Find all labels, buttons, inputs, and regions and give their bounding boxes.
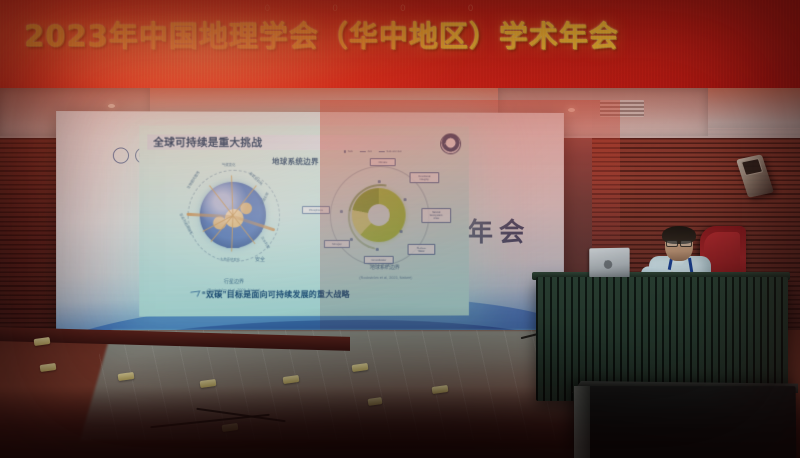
institution-logo-icon bbox=[440, 133, 461, 154]
boundary-label: 土地系统变化 bbox=[220, 256, 241, 262]
planetary-boundaries-diagram: 气候变化 生物圈完整性 生物地球化学流 土地系统变化 淡水利用 海洋酸化 臭氧层… bbox=[180, 160, 288, 268]
esb-box: Climate bbox=[370, 158, 396, 166]
ceiling-vent-icon bbox=[600, 100, 644, 117]
esb-box: Nitrogen bbox=[324, 240, 350, 248]
led-banner: 0000 2023年中国地理学会（华中地区）学术年会 bbox=[0, 0, 800, 88]
bullet-marker-icon bbox=[188, 291, 200, 298]
middle-label: 安全 bbox=[240, 256, 280, 263]
laptop: hp bbox=[589, 248, 629, 279]
foreground-monitor-side bbox=[574, 386, 590, 458]
esb-box: Phosphorus bbox=[302, 206, 330, 214]
slide-bullet-text: “双碳”目标是面向可持续发展的重大战略 bbox=[202, 289, 350, 300]
conference-photo: 九江学院 Jiujiang University 20 年会 全球可持续是重大挑… bbox=[0, 0, 800, 458]
legend-item-safe: Safe bbox=[344, 150, 353, 153]
downlight-icon bbox=[568, 108, 575, 112]
slide-title: 全球可持续是重大挑战 bbox=[153, 135, 262, 150]
downlight-icon bbox=[108, 104, 115, 108]
esb-box: Natural Ecosystem Area bbox=[421, 208, 451, 223]
legend-item-safe-just: Safe and Just bbox=[379, 150, 402, 153]
esb-box: Surface Water bbox=[408, 244, 436, 255]
backdrop-tail-fragment: 年会 bbox=[467, 212, 530, 249]
laptop-brand-icon: hp bbox=[602, 260, 614, 269]
esb-legend: Safe Just Safe and Just bbox=[344, 150, 402, 153]
glasses-icon bbox=[666, 240, 692, 245]
banner-ghost-row: 0000 bbox=[0, 4, 800, 28]
esb-box: Functional Integrity bbox=[410, 172, 440, 183]
university-seal-icon bbox=[113, 147, 129, 163]
right-diagram-citation: (Rockström et al, 2023, Nature) bbox=[336, 276, 435, 280]
banner-glow bbox=[0, 0, 460, 88]
boundary-label: 气候变化 bbox=[222, 162, 236, 167]
foreground-monitor bbox=[574, 386, 797, 458]
earth-system-boundaries-diagram: Safe Just Safe and Just Climate Function… bbox=[300, 152, 459, 280]
banner-title: 2023年中国地理学会（华中地区）学术年会 bbox=[24, 22, 664, 51]
projected-slide: 全球可持续是重大挑战 地球系统边界 气候变化 生物圈完整性 生物地球化学流 土地… bbox=[139, 125, 469, 316]
left-diagram-caption: 行星边界 bbox=[180, 278, 288, 285]
legend-item-just: Just bbox=[360, 150, 372, 153]
right-diagram-caption: 地球系统边界 bbox=[340, 264, 429, 271]
